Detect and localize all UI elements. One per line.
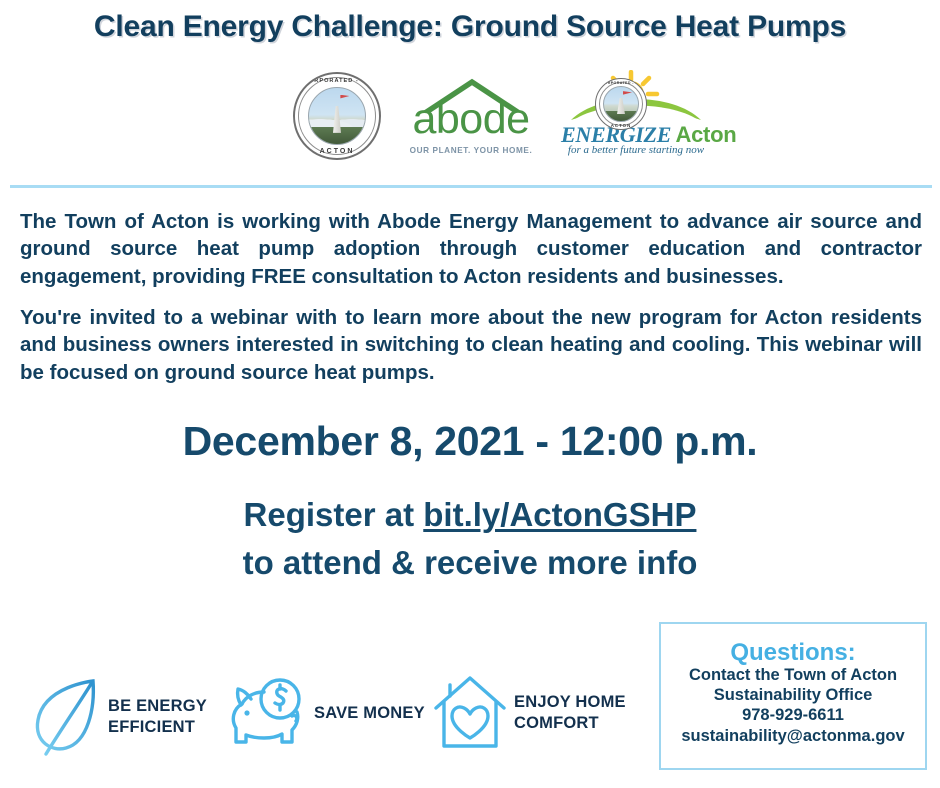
register-line: Register at bit.ly/ActonGSHP xyxy=(0,496,940,534)
questions-line-2: Sustainability Office xyxy=(661,685,925,705)
questions-email[interactable]: sustainability@actonma.gov xyxy=(661,726,925,746)
questions-title: Questions: xyxy=(661,640,925,665)
seal-small-top-text: INCORPORATED - 1735 xyxy=(596,81,646,85)
energize-tagline: for a better future starting now xyxy=(561,144,711,156)
seal-flag xyxy=(340,95,349,101)
town-of-acton-seal-small-icon: INCORPORATED - 1735 ACTON xyxy=(595,78,647,130)
seal-small-scene xyxy=(603,86,639,122)
house-heart-icon xyxy=(430,672,510,754)
page-title: Clean Energy Challenge: Ground Source He… xyxy=(0,10,940,44)
intro-paragraph: The Town of Acton is working with Abode … xyxy=(20,208,922,290)
questions-line-1: Contact the Town of Acton xyxy=(661,665,925,685)
questions-phone[interactable]: 978-929-6611 xyxy=(661,705,925,725)
event-date-time: December 8, 2021 - 12:00 p.m. xyxy=(0,418,940,465)
seal-small-flag xyxy=(623,91,632,97)
benefit-save-money: SAVE MONEY xyxy=(228,672,425,754)
questions-box: Questions: Contact the Town of Acton Sus… xyxy=(659,622,927,770)
seal-top-text: INCORPORATED - 1735 xyxy=(295,78,379,84)
benefit-be-energy-efficient: BE ENERGY EFFICIENT xyxy=(30,676,207,758)
section-divider xyxy=(10,185,932,188)
town-of-acton-seal-icon: INCORPORATED - 1735 ACTON xyxy=(293,72,381,160)
benefit-label-comfort: ENJOY HOME COMFORT xyxy=(514,692,626,733)
seal-bottom-text: ACTON xyxy=(295,148,379,155)
abode-tagline: OUR PLANET. YOUR HOME. xyxy=(407,146,535,155)
benefit-label-money: SAVE MONEY xyxy=(314,703,425,724)
benefit-enjoy-home-comfort: ENJOY HOME COMFORT xyxy=(430,672,626,754)
logo-strip: INCORPORATED - 1735 ACTON abode OUR PLAN… xyxy=(0,62,940,170)
register-subline: to attend & receive more info xyxy=(0,544,940,582)
seal-small-monument xyxy=(617,98,625,114)
abode-wordmark: abode xyxy=(407,98,535,141)
seal-scene xyxy=(308,87,366,145)
register-link[interactable]: bit.ly/ActonGSHP xyxy=(423,496,696,533)
webinar-paragraph: You're invited to a webinar with to lear… xyxy=(20,304,922,386)
abode-logo: abode OUR PLANET. YOUR HOME. xyxy=(407,74,535,158)
piggy-bank-icon xyxy=(228,672,310,754)
leaf-icon xyxy=(30,676,104,758)
seal-small-bottom-text: ACTON xyxy=(596,123,646,128)
register-prefix: Register at xyxy=(244,496,424,533)
benefit-label-energy: BE ENERGY EFFICIENT xyxy=(108,696,207,737)
